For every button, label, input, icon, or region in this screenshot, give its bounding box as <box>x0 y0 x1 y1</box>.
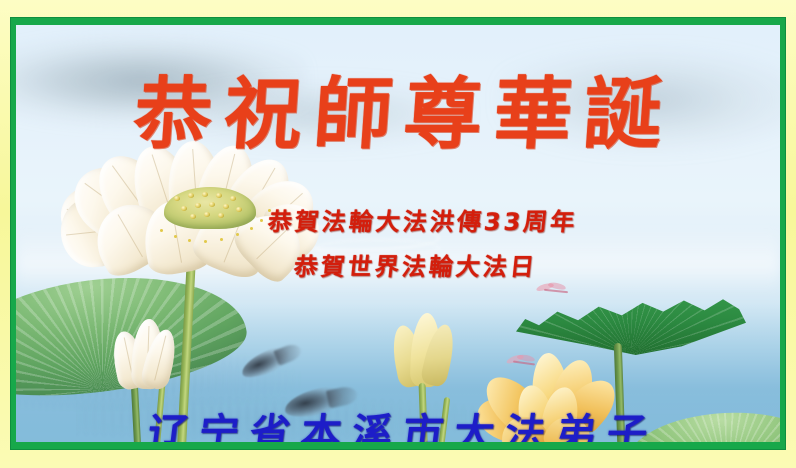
lotus-seed-pod <box>164 187 256 229</box>
lotus-stamen <box>160 229 163 232</box>
lotus-stamen <box>174 235 177 238</box>
ink-fish-upper <box>238 341 298 382</box>
lotus-stamen <box>220 238 223 241</box>
main-title-greeting: 恭祝師尊華誕 <box>131 72 677 158</box>
pod-seed <box>204 212 210 217</box>
card-artwork-plate: 恭祝師尊華誕 恭賀法輪大法洪傳33周年 恭賀世界法輪大法日 辽宁省本溪市大法弟子 <box>16 25 780 442</box>
pod-seed <box>174 196 180 201</box>
pale-lotus-bud-left <box>112 317 176 393</box>
pink-dragonfly-right <box>506 355 540 369</box>
lotus-stamen <box>236 233 239 236</box>
pod-seed <box>230 196 236 201</box>
pod-seed <box>223 204 229 209</box>
lotus-stamen <box>188 239 191 242</box>
lotus-stamen <box>250 227 253 230</box>
greeting-card: 恭祝師尊華誕 恭賀法輪大法洪傳33周年 恭賀世界法輪大法日 辽宁省本溪市大法弟子 <box>0 0 796 468</box>
standing-lotus-leaf-right <box>516 293 746 355</box>
pod-seed <box>209 202 215 207</box>
pod-seed <box>181 206 187 211</box>
pod-seed <box>218 213 224 218</box>
pod-seed <box>195 203 201 208</box>
pod-seed <box>202 192 208 197</box>
pod-seed <box>188 193 194 198</box>
pod-seed <box>190 214 196 219</box>
lotus-stamen <box>204 240 207 243</box>
pod-seed <box>236 207 242 212</box>
pod-seed <box>216 193 222 198</box>
signature-practitioners-region: 辽宁省本溪市大法弟子 <box>145 411 661 442</box>
leaf-vein-rays <box>516 293 746 355</box>
subtitle-falun-dafa-day-line: 恭賀世界法輪大法日 <box>293 253 539 281</box>
pink-dragonfly-upper <box>536 283 570 297</box>
lotus-stamen <box>260 219 263 222</box>
subtitle-anniversary-line: 恭賀法輪大法洪傳33周年 <box>267 208 579 236</box>
fish-tail <box>273 342 303 366</box>
